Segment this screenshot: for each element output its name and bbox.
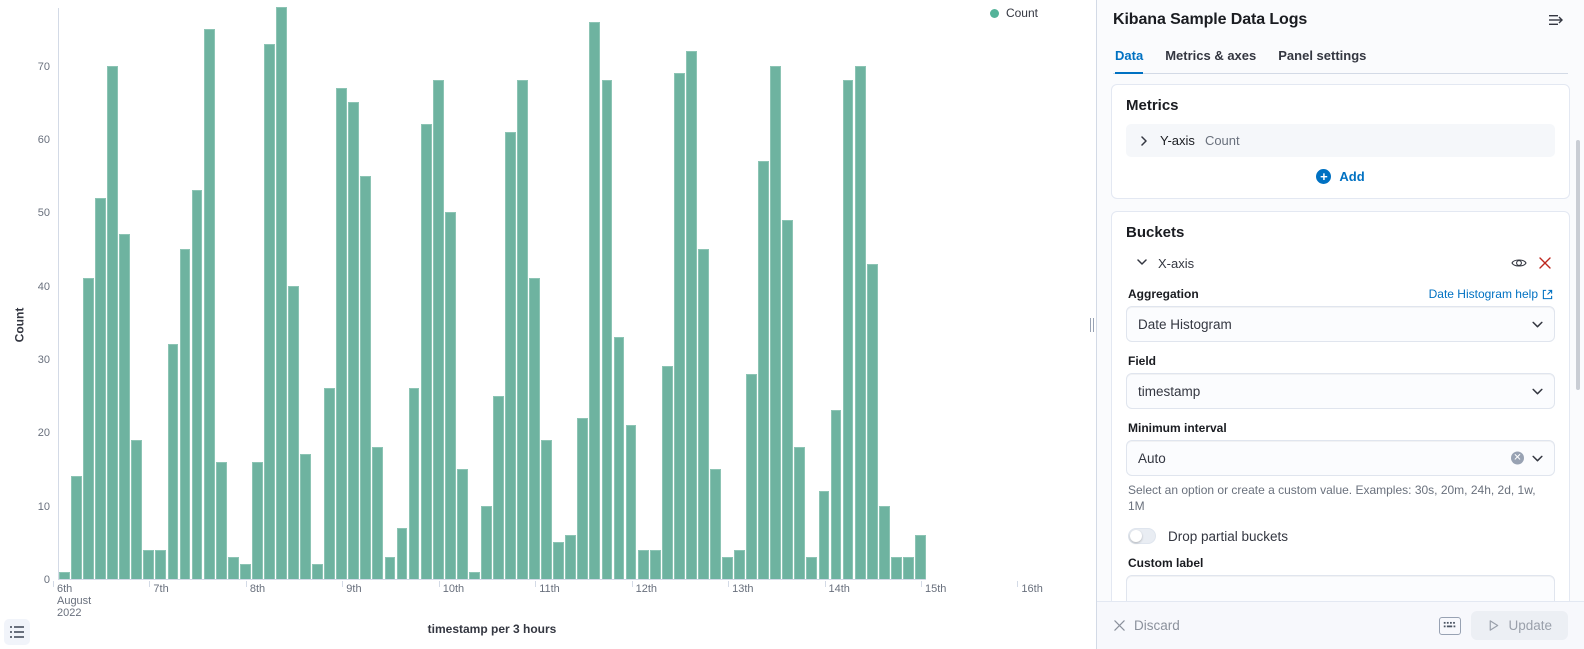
bar[interactable] bbox=[216, 462, 227, 579]
metric-axis-name: Y-axis bbox=[1160, 133, 1195, 148]
date-histogram-help-link[interactable]: Date Histogram help bbox=[1429, 287, 1553, 301]
bar[interactable] bbox=[119, 234, 130, 579]
play-icon bbox=[1487, 619, 1500, 632]
bucket-axis-label: X-axis bbox=[1158, 256, 1194, 271]
legend-toggle-button[interactable] bbox=[4, 619, 30, 645]
bar[interactable] bbox=[806, 557, 817, 579]
chevron-right-icon bbox=[1138, 135, 1150, 147]
tab-metrics-axes[interactable]: Metrics & axes bbox=[1165, 44, 1256, 74]
y-tick-label: 30 bbox=[38, 354, 59, 366]
bar[interactable] bbox=[143, 550, 154, 579]
bar[interactable] bbox=[746, 374, 757, 579]
y-tick-label: 50 bbox=[38, 207, 59, 219]
y-tick-label: 70 bbox=[38, 61, 59, 73]
aggregation-label-row: Aggregation Date Histogram help bbox=[1128, 287, 1553, 301]
drop-partial-buckets-label: Drop partial buckets bbox=[1168, 529, 1288, 544]
bar[interactable] bbox=[95, 198, 106, 579]
bar[interactable] bbox=[372, 447, 383, 579]
bar-series bbox=[59, 8, 926, 579]
field-select[interactable]: timestamp bbox=[1126, 373, 1555, 409]
bar[interactable] bbox=[83, 278, 94, 579]
y-tick-label: 60 bbox=[38, 134, 59, 146]
bar[interactable] bbox=[662, 366, 673, 579]
eye-icon[interactable] bbox=[1511, 255, 1527, 271]
grip-lines-icon bbox=[1090, 318, 1094, 332]
x-tick-label: 14th bbox=[825, 583, 850, 595]
bar[interactable] bbox=[529, 278, 540, 579]
buckets-card: Buckets X-axis bbox=[1111, 211, 1570, 601]
chevron-down-icon bbox=[1136, 256, 1148, 271]
bar[interactable] bbox=[686, 51, 697, 579]
bar[interactable] bbox=[228, 557, 239, 579]
x-tick-label: 6th August 2022 bbox=[53, 583, 91, 619]
aggregation-select[interactable]: Date Histogram bbox=[1126, 306, 1555, 342]
bar[interactable] bbox=[155, 550, 166, 579]
bar[interactable] bbox=[276, 7, 287, 579]
bar[interactable] bbox=[758, 161, 769, 579]
add-metric-label: Add bbox=[1339, 169, 1364, 184]
drop-partial-buckets-toggle[interactable] bbox=[1128, 528, 1156, 544]
custom-label-label: Custom label bbox=[1128, 556, 1555, 570]
bar[interactable] bbox=[433, 80, 444, 579]
bar[interactable] bbox=[252, 462, 263, 579]
close-icon bbox=[1113, 619, 1126, 632]
legend-item-label: Count bbox=[1006, 6, 1038, 20]
bar[interactable] bbox=[541, 440, 552, 579]
bar[interactable] bbox=[324, 388, 335, 579]
update-button[interactable]: Update bbox=[1471, 611, 1568, 640]
bar[interactable] bbox=[782, 220, 793, 579]
panel-resize-handle[interactable] bbox=[1088, 0, 1096, 649]
bar[interactable] bbox=[180, 249, 191, 579]
bar[interactable] bbox=[300, 454, 311, 579]
bar[interactable] bbox=[915, 535, 926, 579]
bucket-x-axis-header[interactable]: X-axis bbox=[1126, 251, 1555, 275]
metric-axis-value: Count bbox=[1205, 133, 1240, 148]
chart-pane: Count Count 010203040506070 6th August 2… bbox=[0, 0, 1096, 649]
legend-color-dot bbox=[990, 9, 999, 18]
bar[interactable] bbox=[240, 564, 251, 579]
panel-body: Metrics Y-axis Count + Add Buck bbox=[1097, 74, 1584, 601]
toggle-knob bbox=[1130, 530, 1142, 542]
update-label: Update bbox=[1508, 618, 1552, 633]
bar[interactable] bbox=[168, 344, 179, 579]
plot-area: 010203040506070 bbox=[58, 8, 926, 580]
keyboard-shortcuts-icon[interactable] bbox=[1439, 617, 1461, 635]
bar[interactable] bbox=[855, 66, 866, 579]
y-tick-label: 10 bbox=[38, 501, 59, 513]
drop-partial-buckets-row: Drop partial buckets bbox=[1128, 528, 1553, 544]
editor-panel: Kibana Sample Data Logs Data Metrics & a… bbox=[1096, 0, 1584, 649]
bar[interactable] bbox=[650, 550, 661, 579]
bar[interactable] bbox=[626, 425, 637, 579]
x-tick-label: 15th bbox=[921, 583, 946, 595]
discard-button[interactable]: Discard bbox=[1113, 618, 1180, 633]
minimum-interval-help: Select an option or create a custom valu… bbox=[1128, 482, 1553, 514]
bar[interactable] bbox=[71, 476, 82, 579]
metric-row-y-axis[interactable]: Y-axis Count bbox=[1126, 124, 1555, 157]
kibana-visualize-editor: Count Count 010203040506070 6th August 2… bbox=[0, 0, 1584, 649]
panel-header: Kibana Sample Data Logs Data Metrics & a… bbox=[1097, 0, 1584, 74]
bar[interactable] bbox=[288, 286, 299, 579]
aggregation-label: Aggregation bbox=[1128, 287, 1199, 301]
bar[interactable] bbox=[336, 88, 347, 579]
x-axis-title: timestamp per 3 hours bbox=[58, 622, 926, 636]
bar[interactable] bbox=[192, 190, 203, 579]
x-tick-label: 10th bbox=[439, 583, 464, 595]
clear-icon[interactable]: ✕ bbox=[1511, 452, 1524, 465]
bar[interactable] bbox=[107, 66, 118, 579]
field-value: timestamp bbox=[1138, 384, 1200, 399]
bar[interactable] bbox=[770, 66, 781, 579]
plus-icon: + bbox=[1316, 169, 1331, 184]
metrics-title: Metrics bbox=[1126, 97, 1555, 114]
chevron-down-icon bbox=[1531, 452, 1544, 465]
panel-tabs: Data Metrics & axes Panel settings bbox=[1113, 44, 1568, 74]
bar[interactable] bbox=[867, 264, 878, 579]
bar[interactable] bbox=[445, 212, 456, 579]
panel-scrollbar-thumb[interactable] bbox=[1576, 140, 1580, 390]
bar[interactable] bbox=[421, 124, 432, 579]
bar[interactable] bbox=[879, 506, 890, 579]
aggregation-value: Date Histogram bbox=[1138, 317, 1232, 332]
x-tick-label: 16th bbox=[1017, 583, 1042, 595]
buckets-title: Buckets bbox=[1126, 224, 1555, 241]
bar[interactable] bbox=[409, 388, 420, 579]
help-link-label: Date Histogram help bbox=[1429, 287, 1538, 301]
bar[interactable] bbox=[204, 29, 215, 579]
x-axis: 6th August 20227th8th9th10th11th12th13th… bbox=[58, 581, 926, 621]
bar[interactable] bbox=[385, 557, 396, 579]
bar[interactable] bbox=[794, 447, 805, 579]
bar[interactable] bbox=[638, 550, 649, 579]
chevron-down-icon bbox=[1531, 385, 1544, 398]
panel-footer: Discard Update bbox=[1097, 601, 1584, 649]
discard-label: Discard bbox=[1134, 618, 1180, 633]
bar[interactable] bbox=[481, 506, 492, 579]
bar[interactable] bbox=[469, 572, 480, 579]
bar[interactable] bbox=[674, 73, 685, 579]
bar[interactable] bbox=[457, 469, 468, 579]
bar[interactable] bbox=[903, 557, 914, 579]
bucket-x-axis: X-axis bbox=[1126, 251, 1555, 601]
bar[interactable] bbox=[819, 491, 830, 579]
bar[interactable] bbox=[59, 572, 70, 579]
y-axis-title: Count bbox=[12, 307, 26, 342]
minimum-interval-select[interactable]: Auto ✕ bbox=[1126, 440, 1555, 476]
external-link-icon bbox=[1542, 289, 1553, 300]
bar[interactable] bbox=[831, 410, 842, 579]
x-tick-label: 11th bbox=[535, 583, 560, 595]
field-label: Field bbox=[1128, 354, 1555, 368]
bar[interactable] bbox=[348, 102, 359, 579]
bar[interactable] bbox=[577, 418, 588, 579]
x-tick-label: 12th bbox=[632, 583, 657, 595]
bar[interactable] bbox=[698, 249, 709, 579]
add-metric-button[interactable]: + Add bbox=[1126, 169, 1555, 184]
chevron-down-icon bbox=[1531, 318, 1544, 331]
bar[interactable] bbox=[565, 535, 576, 579]
y-tick-label: 40 bbox=[38, 281, 59, 293]
bar[interactable] bbox=[589, 22, 600, 579]
bar[interactable] bbox=[505, 132, 516, 579]
tab-data[interactable]: Data bbox=[1115, 44, 1143, 74]
bar[interactable] bbox=[602, 80, 613, 579]
tab-panel-settings[interactable]: Panel settings bbox=[1278, 44, 1366, 74]
bar[interactable] bbox=[264, 44, 275, 579]
bar[interactable] bbox=[360, 176, 371, 579]
bar[interactable] bbox=[493, 396, 504, 579]
bar[interactable] bbox=[734, 550, 745, 579]
x-tick-label: 13th bbox=[728, 583, 753, 595]
collapse-panel-icon[interactable] bbox=[1544, 8, 1568, 32]
chart-legend[interactable]: Count bbox=[990, 6, 1038, 20]
bar[interactable] bbox=[131, 440, 142, 579]
bar[interactable] bbox=[553, 542, 564, 579]
minimum-interval-label: Minimum interval bbox=[1128, 421, 1555, 435]
metrics-card: Metrics Y-axis Count + Add bbox=[1111, 84, 1570, 199]
x-tick-label: 9th bbox=[342, 583, 361, 595]
bar[interactable] bbox=[517, 80, 528, 579]
bar[interactable] bbox=[397, 528, 408, 579]
minimum-interval-value: Auto bbox=[1138, 451, 1166, 466]
custom-label-input[interactable] bbox=[1126, 575, 1555, 601]
y-tick-label: 20 bbox=[38, 427, 59, 439]
bar[interactable] bbox=[843, 80, 854, 579]
bar[interactable] bbox=[710, 469, 721, 579]
bar[interactable] bbox=[722, 557, 733, 579]
bar[interactable] bbox=[312, 564, 323, 579]
x-tick-label: 7th bbox=[149, 583, 168, 595]
bar[interactable] bbox=[891, 557, 902, 579]
close-icon[interactable] bbox=[1537, 255, 1553, 271]
bar[interactable] bbox=[614, 337, 625, 579]
page-title: Kibana Sample Data Logs bbox=[1113, 11, 1307, 29]
x-tick-label: 8th bbox=[246, 583, 265, 595]
